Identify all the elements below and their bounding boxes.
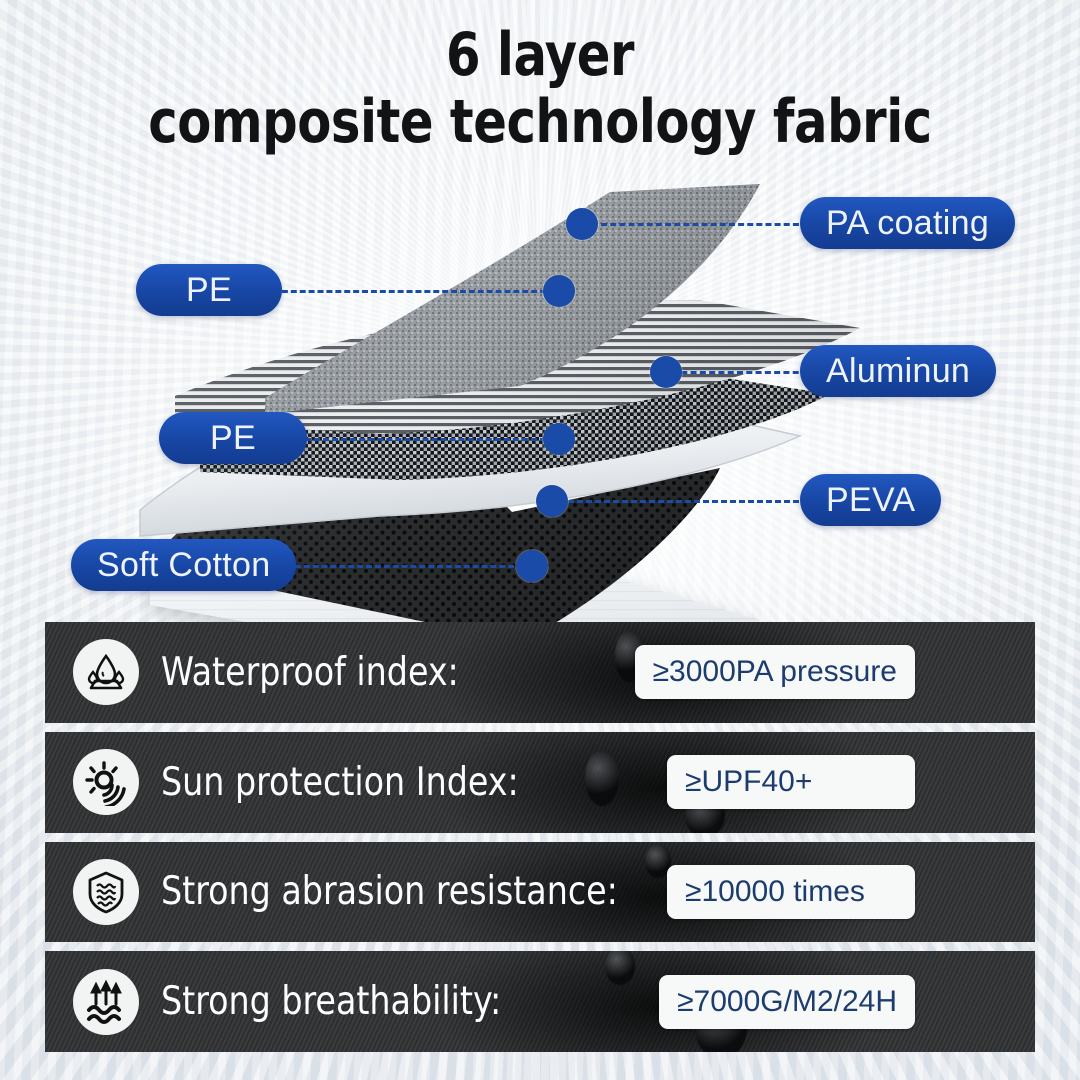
breathability-arrows-icon <box>73 969 139 1035</box>
spec-label: Strong breathability: <box>161 979 501 1024</box>
connector-line-soft-cotton <box>286 565 532 568</box>
spec-row-waterproof: Waterproof index: ≥3000PA pressure <box>45 622 1035 723</box>
connector-dot-pe-upper <box>543 275 575 307</box>
spec-row-abrasion: Strong abrasion resistance: ≥10000 times <box>45 842 1035 943</box>
layer-label-text: PE <box>210 419 256 458</box>
connector-line-peva <box>568 500 808 503</box>
connector-line-pa-coating <box>592 223 808 226</box>
connector-dot-pe-lower <box>543 423 575 455</box>
infographic-page: 6 layer composite technology fabric <box>0 0 1080 1080</box>
spec-value-badge: ≥7000G/M2/24H <box>659 975 915 1029</box>
water-droplet-decor <box>585 750 619 806</box>
layer-label-text: Aluminun <box>826 352 970 391</box>
connector-dot-aluminium <box>650 356 682 388</box>
layer-label-pe-upper[interactable]: PE <box>136 264 282 316</box>
spec-label: Strong abrasion resistance: <box>161 869 618 914</box>
abrasion-shield-icon <box>73 859 139 925</box>
connector-dot-pa-coating <box>566 208 598 240</box>
connector-dot-peva <box>536 485 568 517</box>
layer-label-aluminium[interactable]: Aluminun <box>800 345 996 397</box>
layer-label-text: PA coating <box>826 204 989 243</box>
spec-label: Sun protection Index: <box>161 760 519 805</box>
page-title: 6 layer composite technology fabric <box>0 22 1080 156</box>
spec-label: Waterproof index: <box>161 650 459 695</box>
water-droplet-decor <box>605 951 635 985</box>
spec-row-sun-protection: Sun protection Index: ≥UPF40+ <box>45 732 1035 833</box>
specifications-panel: Waterproof index: ≥3000PA pressure <box>45 622 1035 1052</box>
spec-value-badge: ≥UPF40+ <box>667 755 915 809</box>
layer-label-peva[interactable]: PEVA <box>800 474 941 526</box>
spec-row-breathability: Strong breathability: ≥7000G/M2/24H <box>45 951 1035 1052</box>
layer-label-text: PEVA <box>826 481 915 520</box>
layer-label-soft-cotton[interactable]: Soft Cotton <box>71 539 296 591</box>
layer-label-text: PE <box>186 271 232 310</box>
title-line-2: composite technology fabric <box>43 88 1037 156</box>
layer-label-pe-lower[interactable]: PE <box>159 412 307 464</box>
title-line-1: 6 layer <box>43 22 1037 88</box>
connector-line-aluminium <box>672 371 808 374</box>
sun-protection-icon <box>73 749 139 815</box>
spec-value-badge: ≥10000 times <box>667 865 915 919</box>
layer-label-text: Soft Cotton <box>97 546 270 585</box>
connector-line-pe-upper <box>273 290 555 293</box>
layer-label-pa-coating[interactable]: PA coating <box>800 197 1015 249</box>
waterproof-droplet-icon <box>73 639 139 705</box>
spec-value-badge: ≥3000PA pressure <box>635 645 915 699</box>
connector-dot-soft-cotton <box>516 550 548 582</box>
connector-line-pe-lower <box>305 438 555 441</box>
